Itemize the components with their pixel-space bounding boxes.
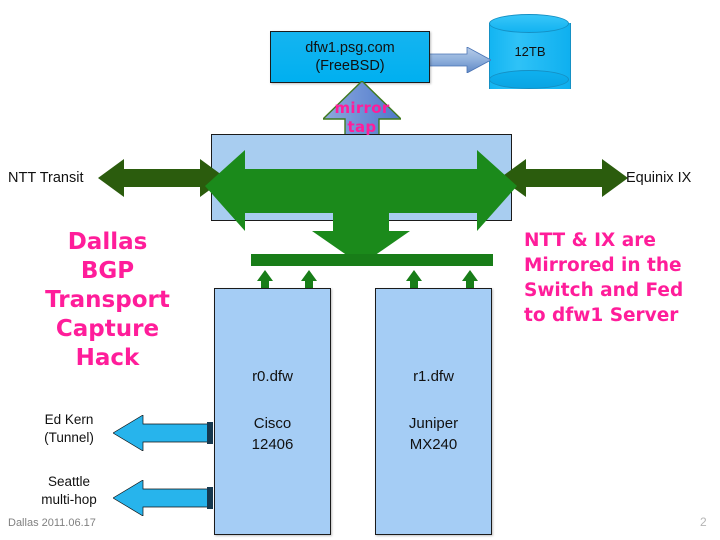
hack-title-line2: BGP <box>20 257 195 286</box>
router-r0-model: Cisco 12406 <box>252 413 294 455</box>
router-r0-name: r0.dfw <box>252 368 293 385</box>
router-r0-model-number: 12406 <box>252 434 294 455</box>
router-r1-name: r1.dfw <box>413 368 454 385</box>
ed-kern-tunnel-label: Ed Kern (Tunnel) <box>28 411 110 447</box>
slide-page-number: 2 <box>700 515 707 529</box>
ed-kern-tunnel-label-line1: Ed Kern <box>28 411 110 429</box>
router-r1-model: Juniper MX240 <box>409 413 458 455</box>
hack-title-line1: Dallas <box>20 228 195 257</box>
router-r1-model-number: MX240 <box>409 434 458 455</box>
ed-kern-tunnel-arrow-icon <box>113 415 213 451</box>
server-os: (FreeBSD) <box>315 57 384 75</box>
server-to-storage-arrow-icon <box>429 47 491 73</box>
slide-footer-text: Dallas 2011.06.17 <box>8 517 96 529</box>
mirror-tap-label-line1: mirror <box>323 99 401 118</box>
mirroring-description-callout: NTT & IX are Mirrored in the Switch and … <box>524 228 720 328</box>
router-r0-dfw-box[interactable]: r0.dfw Cisco 12406 <box>214 288 331 535</box>
hack-title-callout: Dallas BGP Transport Capture Hack <box>20 228 195 373</box>
seattle-multihop-arrow-icon <box>113 480 213 516</box>
mirroring-description-line2: Mirrored in the <box>524 253 720 278</box>
slide-canvas: 12TB dfw1.psg.com (FreeBSD) mirror t <box>0 0 720 540</box>
router-r1-dfw-box[interactable]: r1.dfw Juniper MX240 <box>375 288 492 535</box>
seattle-multihop-label: Seattle multi-hop <box>28 473 110 509</box>
router-r0-vendor: Cisco <box>252 413 294 434</box>
mirror-tap-label: mirror tap <box>323 99 401 137</box>
hack-title-line5: Hack <box>20 344 195 373</box>
cylinder-bottom-ellipse <box>489 70 569 89</box>
equinix-ix-link-arrow-icon <box>500 157 628 199</box>
seattle-multihop-label-line2: multi-hop <box>28 491 110 509</box>
seattle-multihop-label-line1: Seattle <box>28 473 110 491</box>
mirror-tap-label-line2: tap <box>323 118 401 137</box>
storage-cylinder: 12TB <box>489 14 571 98</box>
server-hostname: dfw1.psg.com <box>305 39 394 57</box>
cylinder-top-ellipse <box>489 14 569 33</box>
mirroring-description-line4: to dfw1 Server <box>524 303 720 328</box>
hack-title-line3: Transport <box>20 286 195 315</box>
server-box[interactable]: dfw1.psg.com (FreeBSD) <box>270 31 430 83</box>
equinix-ix-label: Equinix IX <box>626 170 691 186</box>
hack-title-line4: Capture <box>20 315 195 344</box>
mirroring-description-line3: Switch and Fed <box>524 278 720 303</box>
storage-capacity-label: 12TB <box>489 44 571 59</box>
ed-kern-tunnel-label-line2: (Tunnel) <box>28 429 110 447</box>
switch-mirror-path-arrow-icon <box>205 145 517 265</box>
mirroring-description-line1: NTT & IX are <box>524 228 720 253</box>
ntt-transit-label: NTT Transit <box>8 170 83 186</box>
router-r1-vendor: Juniper <box>409 413 458 434</box>
